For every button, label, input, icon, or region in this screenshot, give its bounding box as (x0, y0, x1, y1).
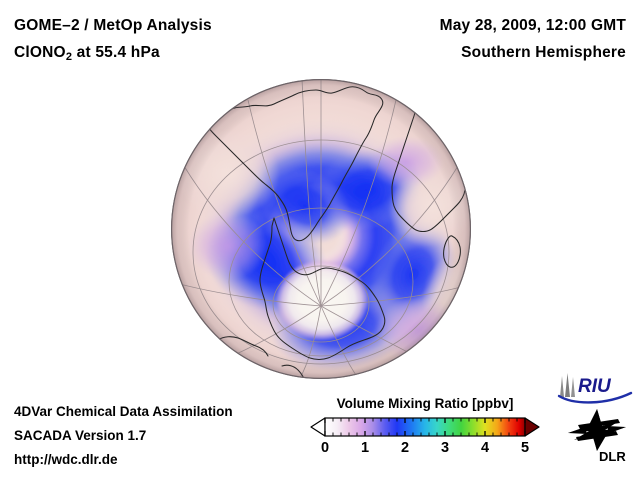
colorbar-tick-label: 2 (401, 440, 409, 456)
version-label: SACADA Version 1.7 (14, 428, 146, 443)
colorbar-tick-label: 1 (361, 440, 369, 456)
method-label: 4DVar Chemical Data Assimilation (14, 404, 233, 419)
figure-canvas: GOME–2 / MetOp Analysis ClONO2 at 55.4 h… (0, 0, 640, 480)
pressure-level: at 55.4 hPa (72, 44, 160, 61)
species-name: ClONO (14, 44, 66, 61)
colorbar-scale[interactable] (305, 414, 545, 440)
colorbar-gradient (325, 418, 525, 436)
riu-wordmark: RIU (578, 376, 612, 397)
riu-logo: RIU (556, 371, 634, 405)
hemisphere-label: Southern Hemisphere (461, 44, 626, 62)
riu-logo-graphic: RIU (556, 371, 634, 405)
colorbar-arrow-low (311, 418, 325, 436)
riu-tower-icon (560, 373, 575, 397)
page-subtitle-species: ClONO2 at 55.4 hPa (14, 44, 160, 63)
colorbar-tick-label: 5 (521, 440, 529, 456)
colorbar: Volume Mixing Ratio [ppbv] 012345 (305, 396, 545, 466)
dlr-logo-graphic: DLR (566, 409, 632, 463)
dlr-star-icon (568, 409, 626, 451)
colorbar-title: Volume Mixing Ratio [ppbv] (305, 396, 545, 411)
colorbar-tick-label: 4 (481, 440, 489, 456)
dlr-wordmark: DLR (599, 449, 626, 463)
limb-shading (171, 79, 471, 379)
orthographic-projection (170, 78, 472, 380)
globe-map (170, 78, 472, 380)
timestamp-label: May 28, 2009, 12:00 GMT (440, 17, 626, 35)
page-title-instrument: GOME–2 / MetOp Analysis (14, 17, 212, 35)
colorbar-tick-label: 0 (321, 440, 329, 456)
colorbar-tick-labels: 012345 (305, 440, 545, 464)
colorbar-tick-label: 3 (441, 440, 449, 456)
dlr-logo: DLR (566, 409, 632, 463)
colorbar-arrow-high (525, 418, 539, 436)
source-url-label[interactable]: http://wdc.dlr.de (14, 452, 118, 467)
